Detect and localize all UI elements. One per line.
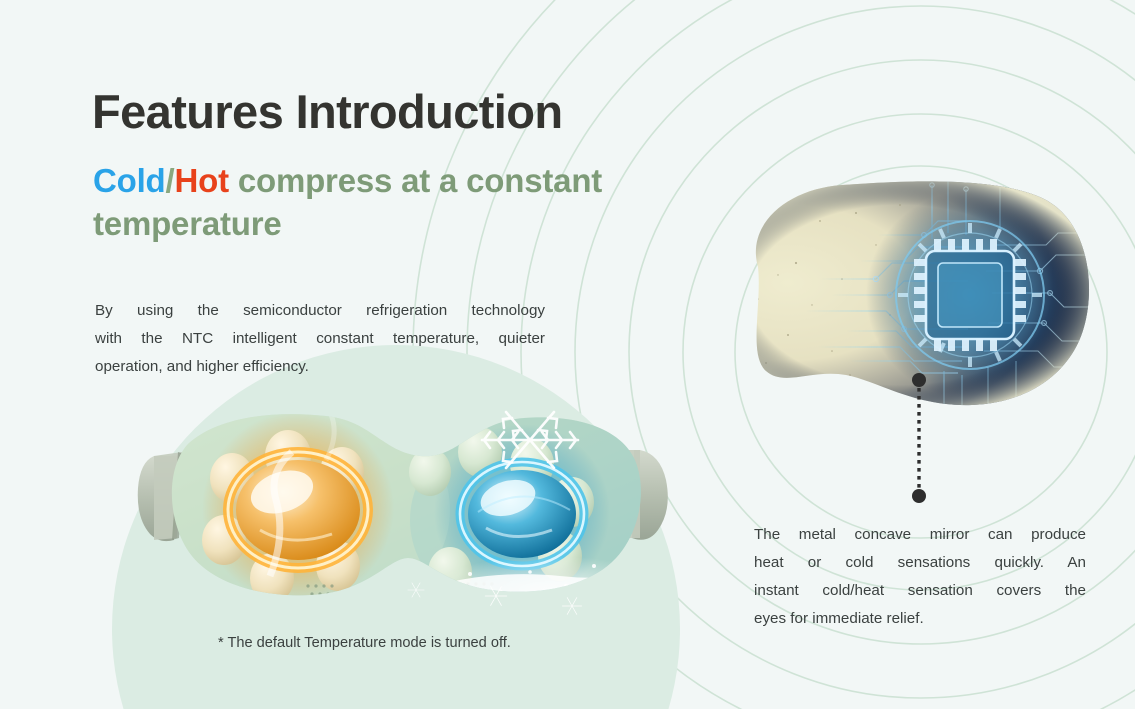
cold-lens bbox=[460, 462, 584, 566]
page-title: Features Introduction bbox=[92, 88, 732, 137]
right-body-line-2: heat or cold sensations quickly. An bbox=[754, 549, 1086, 577]
mask-body bbox=[120, 400, 700, 640]
right-body-paragraph: The metal concave mirror can produce hea… bbox=[754, 521, 1086, 633]
subtitle-rest-line2: temperature bbox=[93, 205, 282, 242]
hot-lens bbox=[228, 452, 368, 568]
left-body-paragraph: By using the semiconductor refrigeration… bbox=[95, 297, 545, 381]
subtitle-rest-line1: compress at a constant bbox=[229, 162, 602, 199]
frost-sweep bbox=[370, 556, 700, 640]
left-body-line-3: operation, and higher efficiency. bbox=[95, 353, 545, 381]
infographic-canvas: Features Introduction Cold/Hot compress … bbox=[0, 0, 1135, 709]
right-body-line-4: eyes for immediate relief. bbox=[754, 605, 1086, 633]
subtitle-hot: Hot bbox=[174, 162, 228, 199]
subtitle-cold: Cold bbox=[93, 162, 166, 199]
left-body-line-1: By using the semiconductor refrigeration… bbox=[95, 297, 545, 325]
chip-illustration bbox=[700, 175, 1100, 415]
page-subtitle: Cold/Hot compress at a constanttemperatu… bbox=[93, 160, 723, 246]
left-body-line-2: with the NTC intelligent constant temper… bbox=[95, 325, 545, 353]
right-body-line-3: instant cold/heat sensation covers the bbox=[754, 577, 1086, 605]
callout-dotted-leader bbox=[903, 372, 935, 504]
right-body-line-1: The metal concave mirror can produce bbox=[754, 521, 1086, 549]
temperature-mode-footnote: * The default Temperature mode is turned… bbox=[218, 635, 511, 651]
eye-mask-photo bbox=[120, 400, 700, 640]
